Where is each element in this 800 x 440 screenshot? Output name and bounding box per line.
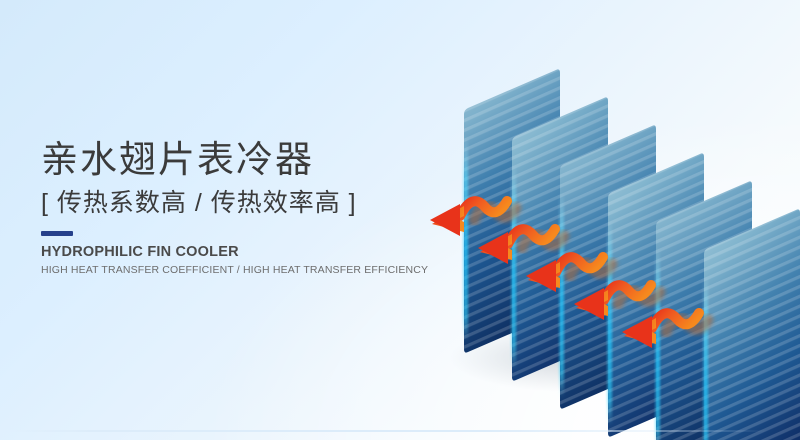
bottom-rule [0, 430, 800, 432]
title-divider [41, 231, 73, 236]
page-title-en: HYDROPHILIC FIN COOLER [41, 244, 441, 260]
product-banner: 亲水翅片表冷器 [ 传热系数高 / 传热效率高 ] HYDROPHILIC FI… [0, 0, 800, 440]
page-subtitle-en: HIGH HEAT TRANSFER COEFFICIENT / HIGH HE… [41, 264, 441, 276]
fin-stack-illustration [420, 40, 800, 400]
page-title: 亲水翅片表冷器 [41, 138, 441, 182]
heading-block: 亲水翅片表冷器 [ 传热系数高 / 传热效率高 ] HYDROPHILIC FI… [41, 138, 441, 276]
fin-plate [704, 209, 800, 440]
page-subtitle: [ 传热系数高 / 传热效率高 ] [41, 188, 441, 218]
